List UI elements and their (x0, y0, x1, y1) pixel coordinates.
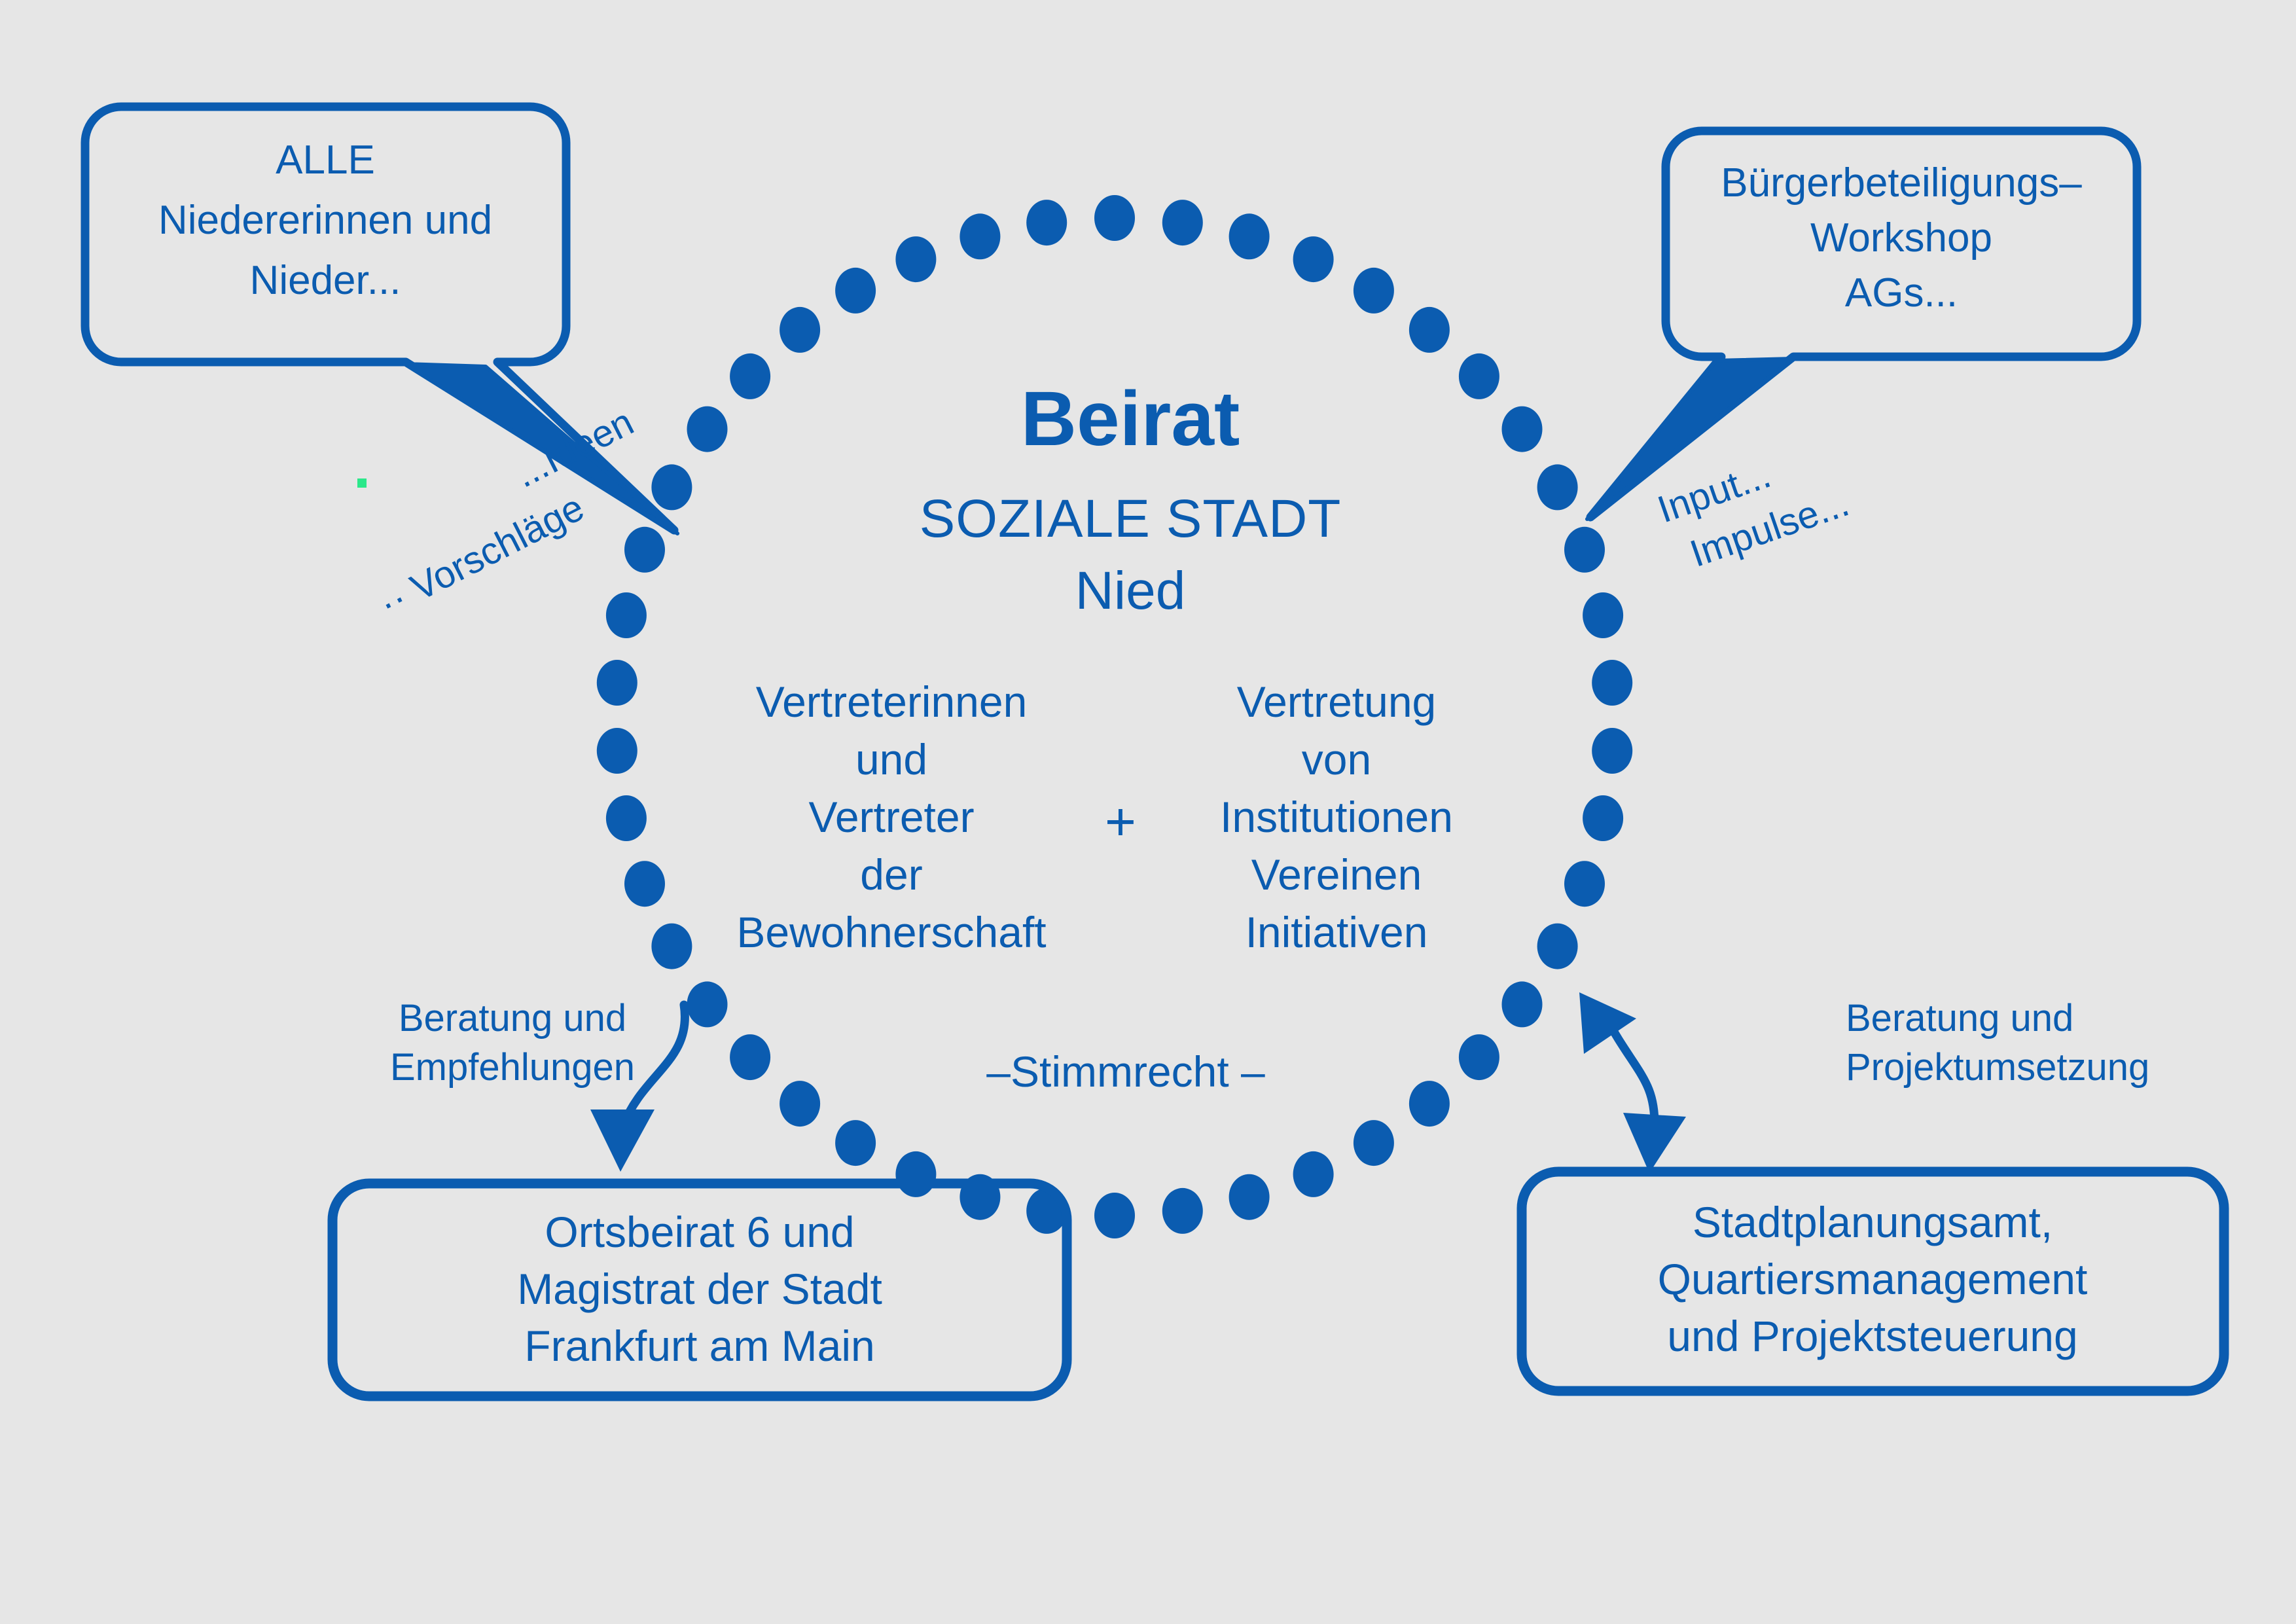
center-right-line-3: Institutionen (1220, 793, 1453, 841)
ring-dot (606, 592, 647, 638)
ring-dot (895, 236, 936, 282)
center-right-column: Vertretung von Institutionen Vereinen In… (1220, 677, 1453, 956)
box-bottom-right-line-3: und Projektsteuerung (1667, 1312, 2077, 1360)
ring-dot (1592, 728, 1632, 774)
ring-dot (835, 268, 876, 314)
center-footer-stimmrecht: –Stimmrecht – (986, 1047, 1265, 1096)
box-bottom-left-line-2: Magistrat der Stadt (517, 1265, 882, 1313)
ring-dot (1229, 1174, 1270, 1220)
annotation-right-out-line-1: Beratung und (1846, 997, 2073, 1039)
annotation-left-out-line-1: Beratung und (399, 997, 626, 1039)
center-place: Nied (1075, 561, 1186, 621)
ring-dot (780, 307, 820, 353)
ring-dot (1459, 1034, 1499, 1080)
green-marker-dot (357, 478, 367, 488)
bubble-top-right-line-3: AGs... (1845, 270, 1958, 316)
ring-dot (1354, 1120, 1394, 1166)
ring-dot (730, 353, 770, 399)
center-right-line-2: von (1302, 735, 1371, 784)
bubble-top-left-line-1: ALLE (276, 137, 375, 183)
ring-dot (730, 1034, 770, 1080)
center-left-line-2: und (855, 735, 927, 784)
center-left-line-4: der (860, 850, 922, 899)
ring-dot (1293, 236, 1334, 282)
ring-dot (1409, 1081, 1450, 1127)
annotation-right-out-line-2: Projektumsetzung (1846, 1046, 2149, 1089)
ring-dot (1293, 1151, 1334, 1197)
box-bottom-left-line-3: Frankfurt am Main (524, 1322, 874, 1370)
ring-dot (1026, 200, 1067, 245)
ring-dot (1592, 660, 1632, 706)
ring-dot (895, 1151, 936, 1197)
bubble-top-left-line-3: Nieder... (250, 258, 401, 303)
center-title: Beirat (1021, 376, 1240, 462)
ring-dot (1583, 795, 1623, 841)
ring-dot (1583, 592, 1623, 638)
ring-dot (1564, 861, 1605, 907)
center-plus-symbol: + (1105, 792, 1136, 852)
ring-dot (606, 795, 647, 841)
box-bottom-right-line-2: Quartiersmanagement (1658, 1255, 2088, 1303)
bubble-top-right-line-1: Bürgerbeteiligungs– (1721, 160, 2082, 206)
ring-dot (597, 728, 637, 774)
ring-dot (1354, 268, 1394, 314)
ring-dot (597, 660, 637, 706)
ring-dot (1162, 200, 1203, 245)
ring-dot (1162, 1188, 1203, 1234)
center-right-line-1: Vertretung (1237, 677, 1437, 726)
bubble-top-right-line-2: Workshop (1810, 215, 1992, 261)
center-left-line-5: Bewohnerschaft (736, 908, 1046, 956)
ring-dot (1502, 981, 1543, 1027)
center-left-line-1: Vertreterinnen (756, 677, 1028, 726)
bubble-top-left-line-2: Niedererinnen und (158, 198, 492, 243)
ring-dot (1537, 924, 1578, 969)
ring-dot (1229, 213, 1270, 259)
ring-dot (1459, 353, 1499, 399)
center-left-line-3: Vertreter (808, 793, 974, 841)
box-bottom-left-line-1: Ortsbeirat 6 und (545, 1208, 854, 1256)
ring-dot (835, 1120, 876, 1166)
center-right-line-5: Initiativen (1246, 908, 1428, 956)
center-subtitle: SOZIALE STADT (920, 489, 1342, 549)
ring-dot (1094, 1193, 1135, 1238)
ring-dot (687, 406, 728, 452)
diagram-svg: ALLE Niedererinnen und Nieder... Bürgerb… (0, 0, 2296, 1624)
ring-dot (1502, 406, 1543, 452)
ring-dot (624, 861, 665, 907)
annotation-left-out-line-2: Empfehlungen (390, 1046, 635, 1089)
ring-dot (651, 464, 692, 510)
box-bottom-right-line-1: Stadtplanungsamt, (1693, 1198, 2053, 1246)
diagram-canvas: ALLE Niedererinnen und Nieder... Bürgerb… (0, 0, 2296, 1624)
ring-dot (780, 1081, 820, 1127)
ring-dot (1537, 464, 1578, 510)
ring-dot (1094, 195, 1135, 241)
center-right-line-4: Vereinen (1251, 850, 1422, 899)
ring-dot (1409, 307, 1450, 353)
ring-dot (624, 527, 665, 573)
ring-dot (651, 924, 692, 969)
ring-dot (1564, 527, 1605, 573)
ring-dot (687, 981, 728, 1027)
ring-dot (960, 213, 1000, 259)
